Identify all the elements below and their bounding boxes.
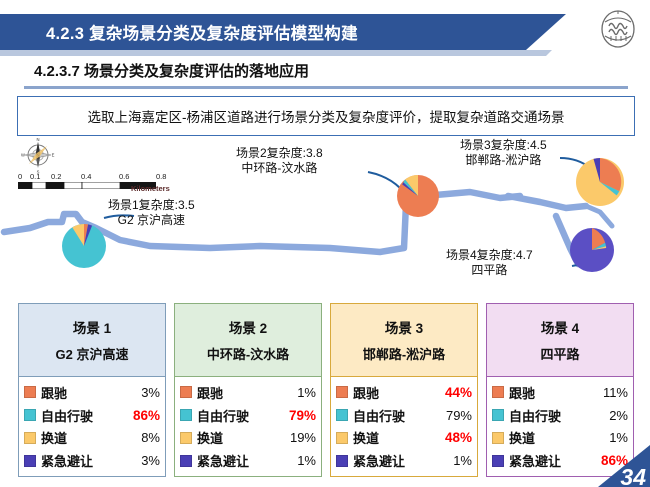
page-title: 4.2.3 复杂场景分类及复杂度评估模型构建 — [46, 20, 358, 44]
annotation-scenario-3-line1: 场景3复杂度:4.5 — [460, 138, 547, 152]
annotation-scenario-2-line1: 场景2复杂度:3.8 — [236, 146, 323, 160]
annotation-scenario-4: 场景4复杂度:4.7 四平路 — [446, 248, 533, 278]
header-banner-shadow — [0, 50, 552, 56]
legend-value: 79% — [289, 408, 316, 423]
legend-label: 自由行驶 — [197, 406, 249, 425]
annotation-scenario-4-line1: 场景4复杂度:4.7 — [446, 248, 533, 262]
swatch-free-icon — [180, 409, 192, 421]
legend-value: 48% — [445, 430, 472, 445]
page-number: 34 — [620, 464, 646, 487]
legend-label: 紧急避让 — [353, 451, 405, 470]
legend-row: 紧急避让 1% — [336, 450, 472, 472]
scenario-card-3-road: 邯郸路-淞沪路 — [363, 344, 445, 363]
legend-value: 2% — [609, 408, 628, 423]
map-panel: N E S W 0 0.1 0.2 0.4 0.6 0.8 Kilometers — [0, 136, 650, 302]
legend-label: 跟驰 — [509, 383, 535, 402]
legend-value: 19% — [290, 430, 316, 445]
annotation-scenario-3: 场景3复杂度:4.5 邯郸路-淞沪路 — [460, 138, 547, 168]
legend-row: 跟驰 1% — [180, 381, 316, 403]
header-banner: 4.2.3 复杂场景分类及复杂度评估模型构建 — [0, 14, 650, 54]
legend-value: 86% — [133, 408, 160, 423]
swatch-follow-icon — [492, 386, 504, 398]
pie-chart-scenario-1 — [62, 224, 106, 268]
scenario-card-4-road: 四平路 — [540, 344, 579, 363]
scenario-card-3-body: 跟驰 44% 自由行驶 79% 换道 48% 紧急避让 1% — [330, 377, 478, 477]
page-number-corner: 34 — [598, 445, 650, 487]
swatch-emergency-icon — [336, 455, 348, 467]
legend-row: 紧急避让 1% — [180, 450, 316, 472]
legend-label: 跟驰 — [353, 383, 379, 402]
annotation-scenario-1: 场景1复杂度:3.5 G2 京沪高速 — [108, 198, 195, 228]
scenario-card-1-road: G2 京沪高速 — [56, 344, 129, 363]
legend-value: 8% — [141, 430, 160, 445]
swatch-free-icon — [492, 409, 504, 421]
legend-value: 3% — [141, 385, 160, 400]
section-divider — [24, 86, 628, 89]
legend-value: 1% — [609, 430, 628, 445]
scenario-card-3-title: 场景 3 — [385, 317, 423, 337]
legend-label: 跟驰 — [197, 383, 223, 402]
scenario-card-2-title: 场景 2 — [229, 317, 267, 337]
scenario-card-2-header: 场景 2 中环路-汶水路 — [174, 303, 322, 377]
legend-label: 自由行驶 — [353, 406, 405, 425]
section-subtitle: 4.2.3.7 场景分类及复杂度评估的落地应用 — [34, 60, 309, 81]
legend-value: 3% — [141, 453, 160, 468]
annotation-scenario-4-line2: 四平路 — [446, 263, 533, 278]
swatch-follow-icon — [336, 386, 348, 398]
legend-row: 换道 19% — [180, 427, 316, 449]
legend-label: 跟驰 — [41, 383, 67, 402]
scenario-card-2-road: 中环路-汶水路 — [207, 344, 289, 363]
swatch-lane-change-icon — [336, 432, 348, 444]
legend-row: 跟驰 11% — [492, 381, 628, 403]
scenario-cards: 场景 1 G2 京沪高速 跟驰 3% 自由行驶 86% 换道 8% — [18, 303, 634, 477]
legend-value: 79% — [446, 408, 472, 423]
swatch-free-icon — [336, 409, 348, 421]
legend-value: 1% — [297, 453, 316, 468]
legend-row: 自由行驶 86% — [24, 404, 160, 426]
legend-value: 11% — [603, 385, 628, 400]
swatch-lane-change-icon — [492, 432, 504, 444]
legend-label: 紧急避让 — [509, 451, 561, 470]
legend-row: 跟驰 44% — [336, 381, 472, 403]
swatch-emergency-icon — [180, 455, 192, 467]
legend-row: 自由行驶 79% — [336, 404, 472, 426]
scenario-card-3-header: 场景 3 邯郸路-淞沪路 — [330, 303, 478, 377]
legend-row: 跟驰 3% — [24, 381, 160, 403]
legend-row: 换道 48% — [336, 427, 472, 449]
swatch-emergency-icon — [24, 455, 36, 467]
legend-row: 自由行驶 2% — [492, 404, 628, 426]
swatch-follow-icon — [24, 386, 36, 398]
legend-value: 1% — [297, 385, 316, 400]
map-roads-and-charts — [0, 136, 650, 302]
callout-text: 选取上海嘉定区-杨浦区道路进行场景分类及复杂度评价，提取复杂道路交通场景 — [88, 106, 565, 126]
scenario-card-4-title: 场景 4 — [541, 317, 579, 337]
legend-row: 换道 8% — [24, 427, 160, 449]
legend-row: 紧急避让 3% — [24, 450, 160, 472]
scenario-card-1-body: 跟驰 3% 自由行驶 86% 换道 8% 紧急避让 3% — [18, 377, 166, 477]
swatch-lane-change-icon — [24, 432, 36, 444]
legend-label: 自由行驶 — [509, 406, 561, 425]
swatch-lane-change-icon — [180, 432, 192, 444]
scenario-card-2-body: 跟驰 1% 自由行驶 79% 换道 19% 紧急避让 1% — [174, 377, 322, 477]
swatch-follow-icon — [180, 386, 192, 398]
scenario-card-3: 场景 3 邯郸路-淞沪路 跟驰 44% 自由行驶 79% 换道 48% — [330, 303, 478, 477]
scenario-card-1-header: 场景 1 G2 京沪高速 — [18, 303, 166, 377]
legend-label: 紧急避让 — [197, 451, 249, 470]
scenario-card-1-title: 场景 1 — [73, 317, 111, 337]
annotation-scenario-1-line2: G2 京沪高速 — [108, 213, 195, 228]
pie-chart-scenario-4 — [570, 228, 614, 272]
annotation-scenario-3-line2: 邯郸路-淞沪路 — [460, 153, 547, 168]
legend-label: 换道 — [197, 428, 223, 447]
swatch-emergency-icon — [492, 455, 504, 467]
legend-value: 44% — [445, 385, 472, 400]
legend-row: 自由行驶 79% — [180, 404, 316, 426]
annotation-scenario-1-line1: 场景1复杂度:3.5 — [108, 198, 195, 212]
legend-label: 换道 — [41, 428, 67, 447]
scenario-card-4-header: 场景 4 四平路 — [486, 303, 634, 377]
annotation-scenario-2-line2: 中环路-汶水路 — [236, 161, 323, 176]
scenario-card-2: 场景 2 中环路-汶水路 跟驰 1% 自由行驶 79% 换道 19% — [174, 303, 322, 477]
legend-label: 换道 — [509, 428, 535, 447]
callout-box: 选取上海嘉定区-杨浦区道路进行场景分类及复杂度评价，提取复杂道路交通场景 — [17, 96, 635, 136]
annotation-scenario-2: 场景2复杂度:3.8 中环路-汶水路 — [236, 146, 323, 176]
pie-chart-scenario-3 — [576, 158, 624, 206]
legend-value: 1% — [453, 453, 472, 468]
slide-root: 4.2.3 复杂场景分类及复杂度评估模型构建 4.2.3.7 场景分类及复杂度评… — [0, 0, 650, 487]
legend-label: 自由行驶 — [41, 406, 93, 425]
swatch-free-icon — [24, 409, 36, 421]
institute-seal-logo-icon — [597, 8, 639, 50]
legend-label: 紧急避让 — [41, 451, 93, 470]
legend-label: 换道 — [353, 428, 379, 447]
scenario-card-1: 场景 1 G2 京沪高速 跟驰 3% 自由行驶 86% 换道 8% — [18, 303, 166, 477]
pie-chart-scenario-2 — [397, 175, 439, 217]
